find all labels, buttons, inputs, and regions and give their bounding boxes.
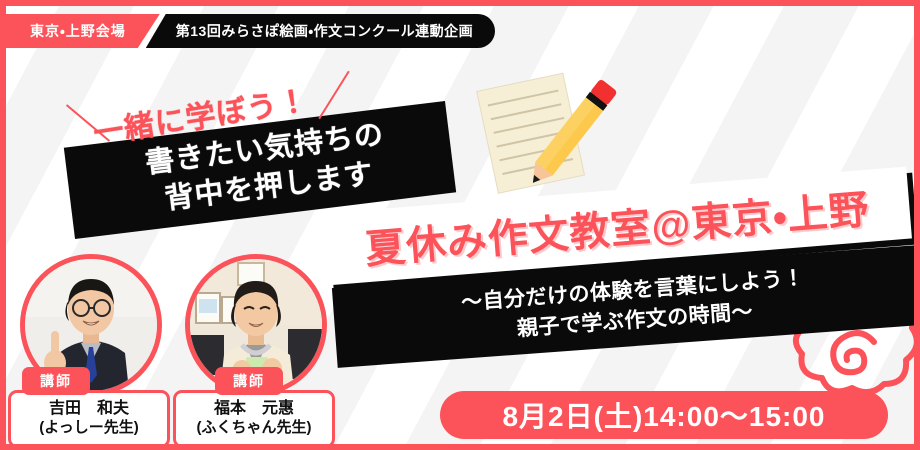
header-tag-row: 東京・上野会場 第13回みらさぽ絵画・作文コンクール連動企画 bbox=[6, 14, 495, 48]
instructor-nickname: (よっしー先生) bbox=[13, 419, 165, 438]
instructor-name-box: 吉田 和夫 (よっしー先生) bbox=[8, 390, 170, 448]
date-time-pill: 8月2日(土)14:00〜15:00 bbox=[440, 391, 888, 439]
venue-tag: 東京・上野会場 bbox=[6, 14, 160, 48]
instructor-name: 福本 元惠 bbox=[178, 399, 330, 419]
instructor-name: 吉田 和夫 bbox=[13, 399, 165, 419]
notepad-pencil-icon bbox=[461, 61, 641, 206]
instructor-card: 講師 吉田 和夫 (よっしー先生) bbox=[6, 254, 166, 450]
instructor-name-box: 福本 元惠 (ふくちゃん先生) bbox=[173, 390, 335, 448]
event-poster-banner: 東京・上野会場 第13回みらさぽ絵画・作文コンクール連動企画 一緒に学ぼう！ 書… bbox=[0, 0, 920, 450]
date-time-text: 8月2日(土)14:00〜15:00 bbox=[502, 395, 825, 435]
instructor-badge: 講師 bbox=[215, 367, 283, 395]
instructor-badge: 講師 bbox=[22, 367, 90, 395]
contest-tag: 第13回みらさぽ絵画・作文コンクール連動企画 bbox=[146, 14, 495, 48]
instructor-list: 講師 吉田 和夫 (よっしー先生) bbox=[6, 254, 331, 450]
instructor-card: 講師 福本 元惠 (ふくちゃん先生) bbox=[171, 254, 331, 450]
instructor-nickname: (ふくちゃん先生) bbox=[178, 419, 330, 438]
